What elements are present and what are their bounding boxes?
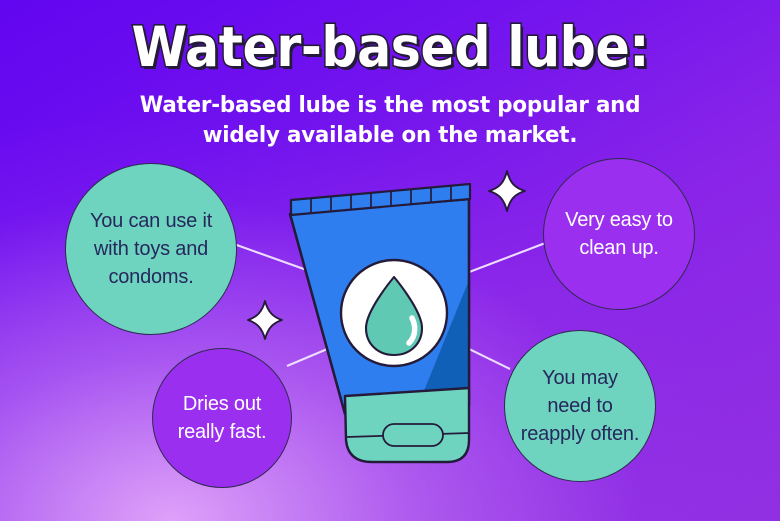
fact-bubble-clean[interactable]: Very easy to clean up. (543, 158, 695, 310)
fact-bubble-toys[interactable]: You can use it with toys and condoms. (65, 163, 237, 335)
fact-bubble-clean-label: Very easy to clean up. (558, 206, 680, 262)
sparkle-icon-right (489, 171, 525, 211)
fact-bubble-dries-label: Dries out really fast. (167, 390, 277, 446)
fact-bubble-reapply[interactable]: You may need to reapply often. (504, 330, 656, 482)
fact-bubble-reapply-label: You may need to reapply often. (519, 364, 641, 448)
sparkle-icon-left (248, 301, 282, 339)
tube-graphic (290, 184, 470, 462)
fact-bubble-toys-label: You can use it with toys and condoms. (80, 207, 222, 291)
fact-bubble-dries[interactable]: Dries out really fast. (152, 348, 292, 488)
infographic-canvas: Water-based lube: Water-based lube is th… (0, 0, 780, 521)
tube-cap-pill (383, 424, 443, 446)
